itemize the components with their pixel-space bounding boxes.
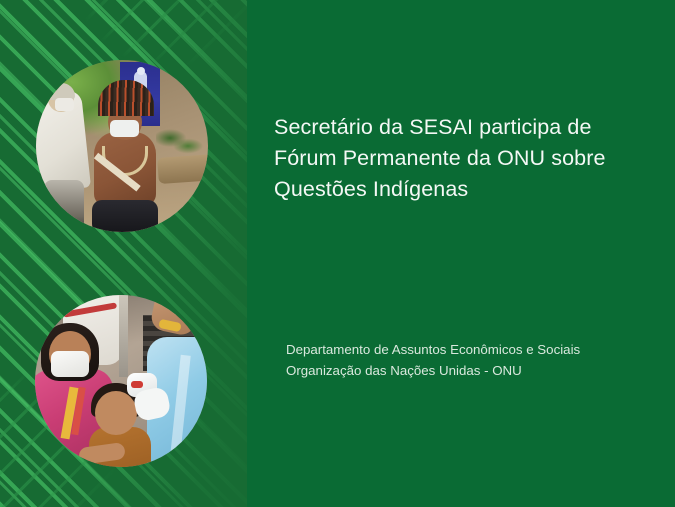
background-pole: [119, 295, 128, 377]
left-decorative-panel: [0, 0, 247, 507]
photo-art-bottom: [35, 295, 207, 467]
slide-subtitle: Departamento de Assuntos Econômicos e So…: [286, 340, 658, 381]
photo-vaccination-indigenous-man: [36, 60, 208, 232]
right-content-panel: Secretário da SESAI participa de Fórum P…: [247, 0, 675, 507]
health-worker-face-mask: [55, 98, 74, 111]
subtitle-line-department: Departamento de Assuntos Econômicos e So…: [286, 340, 658, 361]
indigenous-man-legs: [92, 200, 158, 232]
subtitle-line-organization: Organização das Nações Unidas - ONU: [286, 361, 658, 382]
child-head: [95, 391, 137, 435]
health-worker-legs: [44, 180, 84, 232]
wooden-log: [157, 154, 208, 184]
medical-device-indicator: [131, 381, 143, 388]
banner-figure-head: [137, 67, 145, 75]
photo-vaccination-woman-and-child: [35, 295, 207, 467]
indigenous-man-face-mask: [110, 120, 139, 137]
indigenous-woman-face-mask: [51, 351, 89, 377]
slide-title: Secretário da SESAI participa de Fórum P…: [274, 112, 646, 205]
photo-art-top: [36, 60, 208, 232]
presentation-slide: Secretário da SESAI participa de Fórum P…: [0, 0, 675, 507]
